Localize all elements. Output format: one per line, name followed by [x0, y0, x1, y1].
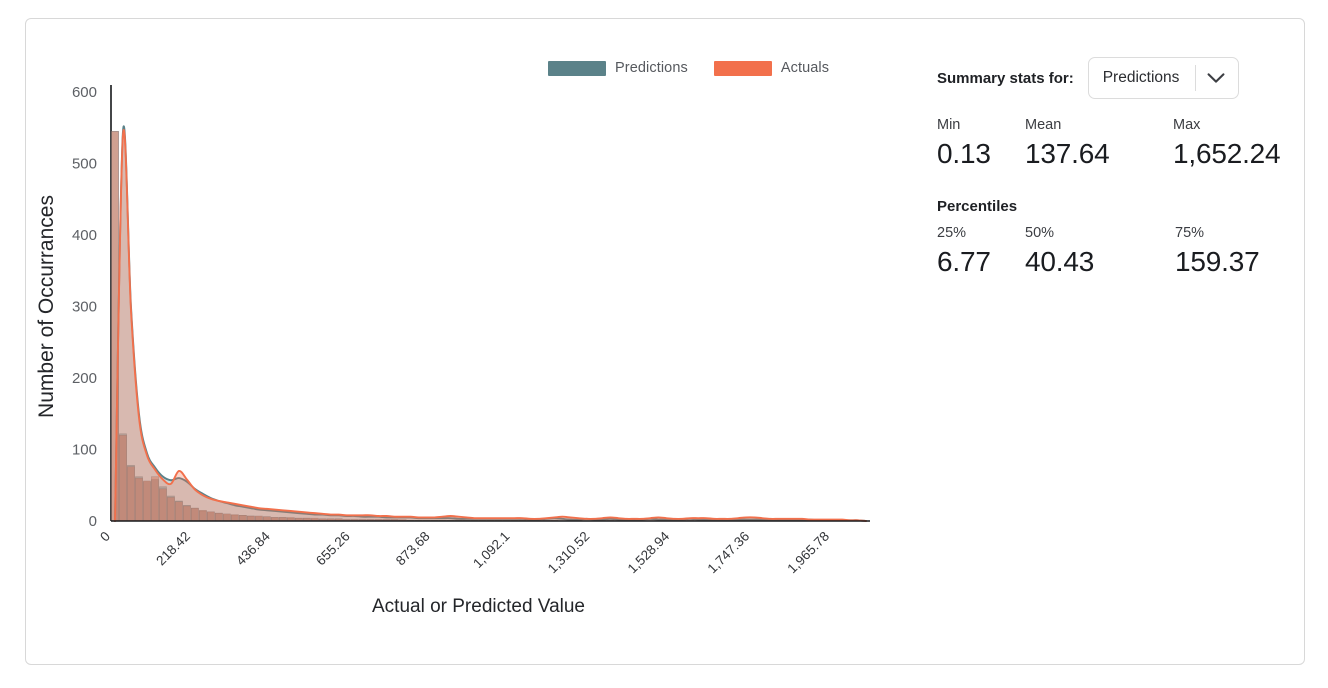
y-tick-label: 0 [89, 513, 97, 530]
x-tick-label: 436.84 [233, 528, 273, 568]
summary-stats-panel: Summary stats for: Predictions Min Mean … [937, 55, 1287, 280]
x-tick-label: 0 [97, 529, 113, 545]
percentiles-keys: 25% 50% 75% [937, 223, 1287, 244]
x-tick-label: 873.68 [393, 529, 433, 569]
pct-value-50: 40.43 [1025, 244, 1175, 280]
density-area-predictions [115, 126, 870, 521]
y-tick-label: 400 [72, 227, 97, 244]
density-curve-actuals [115, 130, 866, 521]
histogram-panel: Predictions Actuals 01002003004005006000… [0, 0, 1328, 688]
pct-key-75: 75% [1175, 223, 1287, 244]
x-tick-label: 655.26 [313, 529, 353, 569]
percentiles-values: 6.77 40.43 159.37 [937, 244, 1287, 280]
y-axis-title: Number of Occurrances [35, 195, 58, 418]
x-tick-label: 1,092.1 [470, 529, 512, 571]
stat-value-max: 1,652.24 [1173, 136, 1287, 172]
stat-key-mean: Mean [1025, 115, 1173, 136]
summary-stats-header: Summary stats for: Predictions [937, 55, 1287, 101]
histogram-svg: 01002003004005006000218.42436.84655.2687… [25, 30, 915, 650]
x-tick-label: 1,747.36 [705, 529, 753, 577]
y-tick-label: 100 [72, 442, 97, 459]
histogram-bars-predictions [111, 131, 693, 521]
summary-stats-select[interactable]: Predictions [1088, 57, 1240, 99]
summary-stats-heading: Summary stats for: [937, 70, 1074, 87]
pct-key-25: 25% [937, 223, 1025, 244]
density-area-actuals [115, 130, 870, 521]
x-tick-label: 1,310.52 [545, 529, 593, 577]
chevron-down-icon[interactable] [1196, 73, 1236, 84]
stat-key-min: Min [937, 115, 1025, 136]
y-tick-label: 300 [72, 299, 97, 316]
summary-stats-keys: Min Mean Max [937, 115, 1287, 136]
y-tick-label: 500 [72, 156, 97, 173]
x-tick-label: 1,528.94 [625, 528, 673, 576]
pct-key-50: 50% [1025, 223, 1175, 244]
density-curve-predictions [115, 126, 866, 521]
x-tick-label: 218.42 [153, 529, 193, 569]
stat-key-max: Max [1173, 115, 1287, 136]
x-tick-label: 1,965.78 [784, 529, 832, 577]
histogram-bars-actuals [111, 131, 685, 521]
stat-value-mean: 137.64 [1025, 136, 1173, 172]
percentiles-title: Percentiles [937, 198, 1287, 215]
pct-value-25: 6.77 [937, 244, 1025, 280]
chart-area: 01002003004005006000218.42436.84655.2687… [25, 30, 915, 650]
x-axis-title: Actual or Predicted Value [372, 596, 585, 617]
y-tick-label: 600 [72, 84, 97, 101]
y-tick-label: 200 [72, 370, 97, 387]
pct-value-75: 159.37 [1175, 244, 1287, 280]
summary-stats-values: 0.13 137.64 1,652.24 [937, 136, 1287, 172]
stat-value-min: 0.13 [937, 136, 1025, 172]
summary-stats-select-value: Predictions [1103, 69, 1196, 87]
